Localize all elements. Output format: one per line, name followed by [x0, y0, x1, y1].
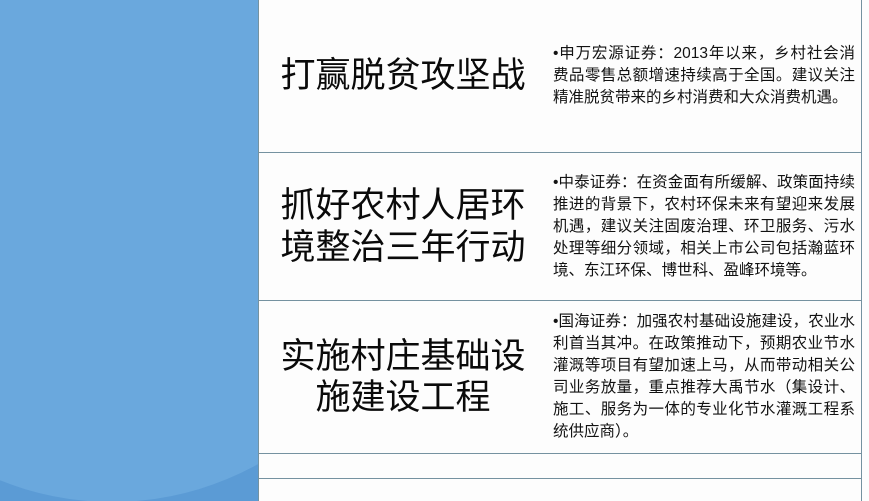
table-row: 实施村庄基础设施建设工程 •国海证券：加强农村基础设施建设，农业水利首当其冲。在…: [259, 301, 861, 453]
row-body-text: •中泰证券：在资金面有所缓解、政策面持续推进的背景下，农村环保未来有望迎来发展机…: [553, 172, 855, 282]
row-title-cell: 抓好农村人居环境整治三年行动: [259, 153, 547, 300]
row-body-text: •国海证券：加强农村基础设施建设，农业水利首当其冲。在政策推动下，预期农业节水灌…: [553, 311, 855, 443]
table-row: [259, 454, 861, 478]
row-title-cell: 打赢脱贫攻坚战: [259, 0, 547, 152]
slide-canvas: 打赢脱贫攻坚战 •申万宏源证券：2013年以来，乡村社会消费品零售总额增速持续高…: [0, 0, 869, 501]
table-row: 打赢脱贫攻坚战 •申万宏源证券：2013年以来，乡村社会消费品零售总额增速持续高…: [259, 0, 861, 152]
row-title-cell: [259, 454, 547, 478]
row-body-cell: [547, 479, 861, 501]
row-body-cell: [547, 454, 861, 478]
row-body-cell: •申万宏源证券：2013年以来，乡村社会消费品零售总额增速持续高于全国。建议关注…: [547, 0, 861, 152]
decorative-circle-inner: [0, 0, 258, 501]
table-row: 抓好农村人居环境整治三年行动 •中泰证券：在资金面有所缓解、政策面持续推进的背景…: [259, 153, 861, 300]
table-right-border: [861, 0, 862, 501]
row-body-cell: •中泰证券：在资金面有所缓解、政策面持续推进的背景下，农村环保未来有望迎来发展机…: [547, 153, 861, 300]
row-title-text: 实施村庄基础设施建设工程: [265, 336, 541, 419]
row-title-text: 打赢脱贫攻坚战: [280, 55, 525, 96]
row-title-cell: [259, 479, 547, 501]
table-row: [259, 479, 861, 501]
row-title-cell: 实施村庄基础设施建设工程: [259, 301, 547, 453]
row-body-text: •申万宏源证券：2013年以来，乡村社会消费品零售总额增速持续高于全国。建议关注…: [553, 43, 855, 109]
row-title-text: 抓好农村人居环境整治三年行动: [265, 185, 541, 268]
decorative-circles-group: [0, 0, 258, 501]
row-body-cell: •国海证券：加强农村基础设施建设，农业水利首当其冲。在政策推动下，预期农业节水灌…: [547, 301, 861, 453]
